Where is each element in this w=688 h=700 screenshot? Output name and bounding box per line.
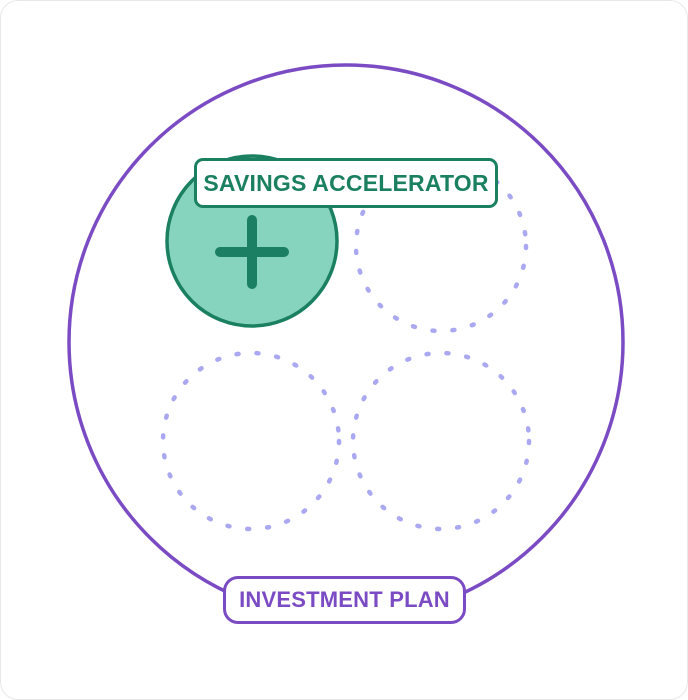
savings-accelerator-label: SAVINGS ACCELERATOR <box>203 170 488 197</box>
investment-plan-label: INVESTMENT PLAN <box>239 587 450 613</box>
diagram-page: SAVINGS ACCELERATOR INVESTMENT PLAN <box>0 0 688 700</box>
dashed-circle-bottom-left[interactable] <box>163 353 339 529</box>
savings-accelerator-badge[interactable]: SAVINGS ACCELERATOR <box>194 158 498 208</box>
outer-ring-circle <box>69 65 623 619</box>
investment-plan-badge[interactable]: INVESTMENT PLAN <box>223 576 466 624</box>
dashed-circle-bottom-right[interactable] <box>353 353 529 529</box>
